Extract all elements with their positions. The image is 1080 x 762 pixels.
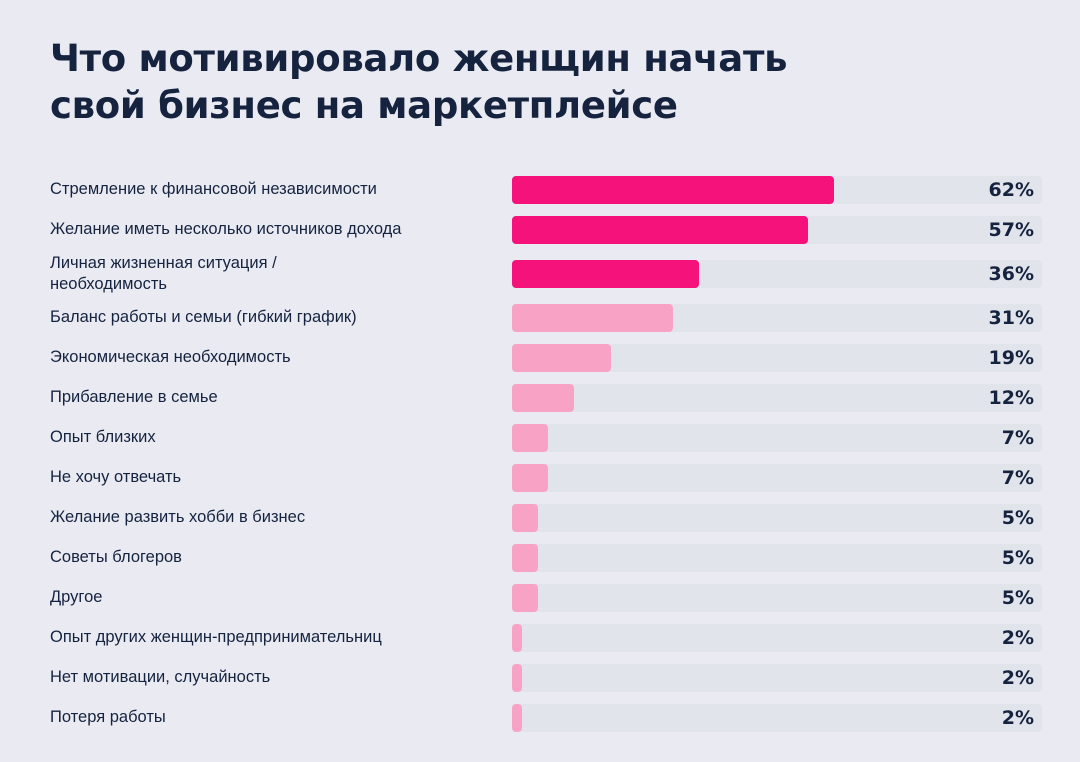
category-label: Желание развить хобби в бизнес (50, 498, 500, 538)
chart-row: Нет мотивации, случайность2% (0, 658, 1080, 698)
bar-fill (512, 304, 673, 332)
category-label: Другое (50, 578, 500, 618)
value-label: 31% (989, 304, 1034, 332)
category-label: Баланс работы и семьи (гибкий график) (50, 298, 500, 338)
value-label: 5% (1002, 584, 1034, 612)
chart-row: Опыт близких7% (0, 418, 1080, 458)
value-label: 12% (989, 384, 1034, 412)
bar-track: 5% (512, 544, 1042, 572)
bar-fill (512, 584, 538, 612)
value-label: 2% (1002, 664, 1034, 692)
bar-fill (512, 216, 808, 244)
bar-track: 7% (512, 464, 1042, 492)
category-label: Опыт близких (50, 418, 500, 458)
bar-fill (512, 464, 548, 492)
bar-fill (512, 344, 611, 372)
chart-row: Советы блогеров5% (0, 538, 1080, 578)
bar-track: 36% (512, 260, 1042, 288)
category-label: Личная жизненная ситуация / необходимост… (50, 250, 500, 298)
bar-fill (512, 624, 522, 652)
bar-chart: Стремление к финансовой независимости62%… (0, 170, 1080, 738)
bar-fill (512, 176, 834, 204)
value-label: 7% (1002, 424, 1034, 452)
category-label: Экономическая необходимость (50, 338, 500, 378)
value-label: 5% (1002, 544, 1034, 572)
bar-track: 2% (512, 624, 1042, 652)
chart-row: Опыт других женщин-предпринимательниц2% (0, 618, 1080, 658)
chart-row: Прибавление в семье12% (0, 378, 1080, 418)
bar-fill (512, 664, 522, 692)
bar-fill (512, 260, 699, 288)
bar-track: 2% (512, 664, 1042, 692)
bar-fill (512, 704, 522, 732)
page-title: Что мотивировало женщин начать свой бизн… (50, 36, 950, 129)
chart-row: Стремление к финансовой независимости62% (0, 170, 1080, 210)
bar-track: 5% (512, 504, 1042, 532)
bar-fill (512, 504, 538, 532)
bar-fill (512, 424, 548, 452)
value-label: 2% (1002, 704, 1034, 732)
chart-row: Желание развить хобби в бизнес5% (0, 498, 1080, 538)
category-label: Не хочу отвечать (50, 458, 500, 498)
value-label: 5% (1002, 504, 1034, 532)
bar-track: 57% (512, 216, 1042, 244)
value-label: 62% (989, 176, 1034, 204)
value-label: 7% (1002, 464, 1034, 492)
category-label: Желание иметь несколько источников доход… (50, 210, 500, 250)
value-label: 2% (1002, 624, 1034, 652)
category-label: Советы блогеров (50, 538, 500, 578)
chart-row: Другое5% (0, 578, 1080, 618)
bar-track: 5% (512, 584, 1042, 612)
bar-track: 7% (512, 424, 1042, 452)
chart-row: Не хочу отвечать7% (0, 458, 1080, 498)
chart-row: Потеря работы2% (0, 698, 1080, 738)
chart-row: Желание иметь несколько источников доход… (0, 210, 1080, 250)
category-label: Стремление к финансовой независимости (50, 170, 500, 210)
chart-page: Что мотивировало женщин начать свой бизн… (0, 0, 1080, 762)
chart-row: Экономическая необходимость19% (0, 338, 1080, 378)
bar-track: 12% (512, 384, 1042, 412)
category-label: Прибавление в семье (50, 378, 500, 418)
chart-row: Баланс работы и семьи (гибкий график)31% (0, 298, 1080, 338)
bar-track: 2% (512, 704, 1042, 732)
bar-track: 19% (512, 344, 1042, 372)
category-label: Опыт других женщин-предпринимательниц (50, 618, 500, 658)
bar-fill (512, 384, 574, 412)
value-label: 19% (989, 344, 1034, 372)
bar-track: 31% (512, 304, 1042, 332)
bar-fill (512, 544, 538, 572)
category-label: Потеря работы (50, 698, 500, 738)
chart-row: Личная жизненная ситуация / необходимост… (0, 250, 1080, 298)
value-label: 57% (989, 216, 1034, 244)
category-label: Нет мотивации, случайность (50, 658, 500, 698)
bar-track: 62% (512, 176, 1042, 204)
value-label: 36% (989, 260, 1034, 288)
